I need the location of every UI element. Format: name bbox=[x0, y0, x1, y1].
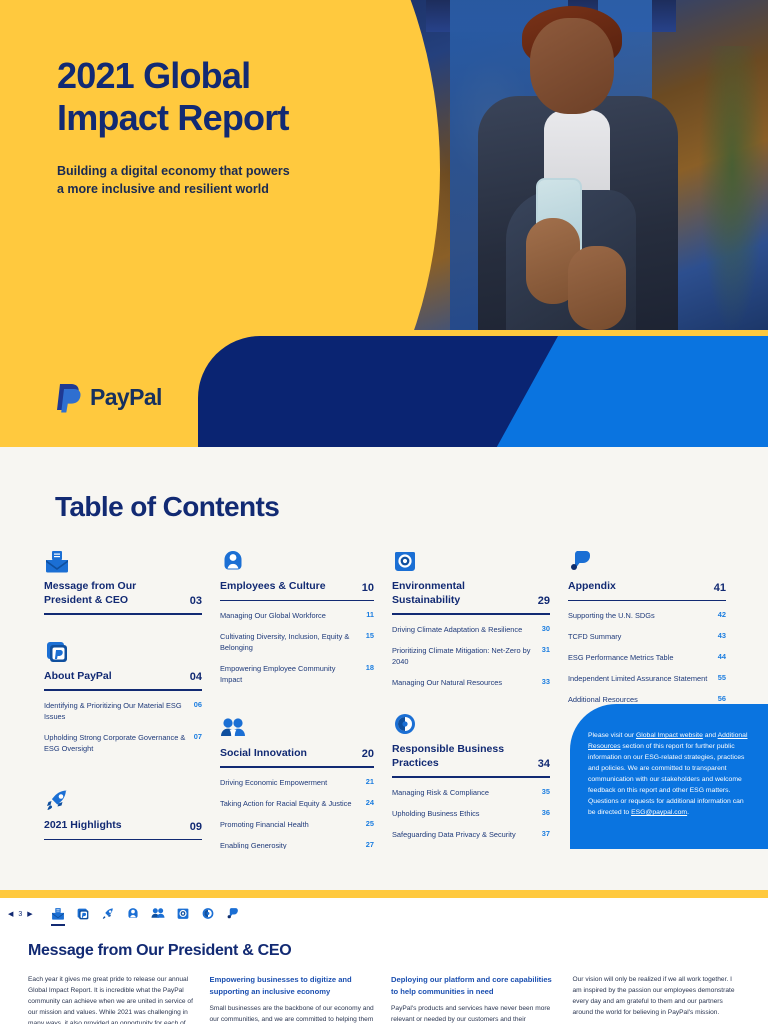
toolbar-accent-bar bbox=[0, 890, 768, 898]
callout-text-1: Please visit our bbox=[588, 732, 636, 739]
toc-subitem-label: Promoting Financial Health bbox=[220, 819, 309, 830]
toc-subitem[interactable]: Promoting Financial Health 25 bbox=[220, 819, 374, 830]
toc-subitem-label: Managing Our Global Workforce bbox=[220, 610, 326, 621]
toc-subitem[interactable]: Cultivating Diversity, Inclusion, Equity… bbox=[220, 631, 374, 653]
toc-subitem-label: Upholding Business Ethics bbox=[392, 808, 480, 819]
toc-subitem[interactable]: Independent Limited Assurance Statement … bbox=[568, 673, 726, 684]
section-heading: Deploying our platform and core capabili… bbox=[391, 974, 559, 998]
message-from-ceo-page: Message from Our President & CEO Each ye… bbox=[0, 930, 768, 1024]
cover-page: 2021 Global Impact Report Building a dig… bbox=[0, 0, 768, 447]
toc-subitem-label: TCFD Summary bbox=[568, 631, 621, 642]
paypal-logo: PayPal bbox=[55, 381, 162, 413]
toc-head-page: 34 bbox=[538, 758, 550, 770]
envelope-icon[interactable] bbox=[51, 907, 65, 921]
toc-head-label: 2021 Highlights bbox=[44, 819, 122, 833]
toc-subitem-page: 07 bbox=[194, 732, 202, 741]
shield-check-icon bbox=[392, 725, 418, 742]
cover-title-line2: Impact Report bbox=[57, 97, 289, 138]
body-paragraph: Small businesses are the backbone of our… bbox=[210, 1003, 378, 1024]
toc-subitem-page: 18 bbox=[366, 663, 374, 672]
toc-head: Social Innovation 20 bbox=[220, 747, 374, 761]
paypal-card-icon bbox=[44, 652, 70, 669]
photo-person-face bbox=[530, 18, 614, 114]
toc-subitem-label: Driving Economic Empowerment bbox=[220, 777, 327, 788]
body-paragraph: PayPal's products and services have neve… bbox=[391, 1003, 559, 1024]
current-page-number: 3 bbox=[18, 911, 22, 918]
cover-subtitle: Building a digital economy that powers a… bbox=[57, 162, 337, 198]
toc-subitem-label: Managing Risk & Compliance bbox=[392, 787, 489, 798]
paypal-logo-text: PayPal bbox=[90, 384, 162, 411]
toc-group-message[interactable]: Message from Our President & CEO 03 bbox=[44, 549, 202, 615]
toc-head-page: 10 bbox=[362, 582, 374, 594]
toc-divider bbox=[392, 776, 550, 777]
toc-head-label: Environmental Sustainability bbox=[392, 580, 532, 607]
rocket-icon bbox=[44, 801, 70, 818]
table-of-contents-page: Table of Contents Message from Our Presi… bbox=[0, 449, 768, 890]
toc-subitem-label: Managing Our Natural Resources bbox=[392, 677, 502, 688]
toc-subitem[interactable]: Managing Our Global Workforce 11 bbox=[220, 610, 374, 621]
toc-subitem-label: Supporting the U.N. SDGs bbox=[568, 610, 655, 621]
toc-subitem-page: 21 bbox=[366, 777, 374, 786]
toc-head-page: 04 bbox=[190, 671, 202, 683]
body-paragraph: Our vision will only be realized if we a… bbox=[573, 974, 741, 1018]
toc-head: About PayPal 04 bbox=[44, 670, 202, 684]
toc-subitem-page: 35 bbox=[542, 787, 550, 796]
toc-divider bbox=[44, 689, 202, 690]
toc-subitem-label: Identifying & Prioritizing Our Material … bbox=[44, 700, 186, 722]
toc-subitem-page: 36 bbox=[542, 808, 550, 817]
callout-text-3: section of this report for further publi… bbox=[588, 743, 744, 816]
two-people-icon[interactable] bbox=[151, 907, 165, 921]
toc-divider bbox=[44, 839, 202, 840]
toc-head: Employees & Culture 10 bbox=[220, 580, 374, 594]
toc-subitem-label: ESG Performance Metrics Table bbox=[568, 652, 673, 663]
toc-subitem-page: 11 bbox=[366, 610, 374, 619]
toc-group-about-paypal[interactable]: About PayPal 04 Identifying & Prioritizi… bbox=[44, 639, 202, 754]
toc-subitem[interactable]: Managing Risk & Compliance 35 bbox=[392, 787, 550, 798]
toc-subitem-page: 31 bbox=[542, 645, 550, 654]
toc-head-page: 09 bbox=[190, 821, 202, 833]
page3-column-4: Our vision will only be realized if we a… bbox=[573, 974, 741, 1024]
toc-subitem-page: 44 bbox=[718, 652, 726, 661]
toc-head-page: 03 bbox=[190, 595, 202, 607]
page3-column-3: Deploying our platform and core capabili… bbox=[391, 974, 559, 1024]
toc-subitem-page: 56 bbox=[718, 694, 726, 703]
toc-subitem-label: Driving Climate Adaptation & Resilience bbox=[392, 624, 522, 635]
page-title: Table of Contents bbox=[55, 491, 279, 523]
toc-head-label: Employees & Culture bbox=[220, 580, 326, 594]
toc-group-highlights[interactable]: 2021 Highlights 09 bbox=[44, 788, 202, 840]
bookmark-icon[interactable] bbox=[226, 907, 240, 921]
toc-bottom-spacer bbox=[0, 849, 768, 890]
toc-subitem[interactable]: Identifying & Prioritizing Our Material … bbox=[44, 700, 202, 722]
esg-email-link[interactable]: ESG@paypal.com bbox=[631, 809, 687, 816]
page3-column-2: Empowering businesses to digitize and su… bbox=[210, 974, 378, 1024]
toc-subitem-label: Independent Limited Assurance Statement bbox=[568, 673, 707, 684]
shield-check-icon[interactable] bbox=[201, 907, 215, 921]
toc-subitem-page: 43 bbox=[718, 631, 726, 640]
section-heading: Empowering businesses to digitize and su… bbox=[210, 974, 378, 998]
toc-subitem-label: Upholding Strong Corporate Governance & … bbox=[44, 732, 186, 754]
callout-text-2: and bbox=[703, 732, 718, 739]
next-page-button[interactable]: ▶ bbox=[27, 910, 32, 918]
toc-subitem-label: Safeguarding Data Privacy & Security bbox=[392, 829, 516, 840]
section-shortcut-icons bbox=[51, 907, 240, 921]
toc-head-label: Message from Our President & CEO bbox=[44, 580, 184, 607]
globe-target-icon[interactable] bbox=[176, 907, 190, 921]
bookmark-icon bbox=[568, 562, 594, 579]
document-toolbar: ◀ 3 ▶ bbox=[0, 898, 768, 930]
page-title: Message from Our President & CEO bbox=[28, 942, 291, 960]
toc-subitem-label: Empowering Employee Community Impact bbox=[220, 663, 358, 685]
toc-divider bbox=[44, 613, 202, 614]
toc-head-label: Responsible Business Practices bbox=[392, 743, 532, 770]
toc-head: Message from Our President & CEO 03 bbox=[44, 580, 202, 607]
toc-subitem[interactable]: Upholding Business Ethics 36 bbox=[392, 808, 550, 819]
toc-divider bbox=[220, 600, 374, 601]
callout-text-4: . bbox=[687, 809, 689, 816]
toc-divider bbox=[392, 613, 550, 614]
toc-subitem[interactable]: Driving Climate Adaptation & Resilience … bbox=[392, 624, 550, 635]
toc-subitem[interactable]: Empowering Employee Community Impact 18 bbox=[220, 663, 374, 685]
toc-subitem-label: Taking Action for Racial Equity & Justic… bbox=[220, 798, 351, 809]
toc-subitem[interactable]: ESG Performance Metrics Table 44 bbox=[568, 652, 726, 663]
toc-head: Environmental Sustainability 29 bbox=[392, 580, 550, 607]
toc-subitem-page: 25 bbox=[366, 819, 374, 828]
toc-group-appendix[interactable]: Appendix 41 Supporting the U.N. SDGs 42 … bbox=[568, 549, 726, 706]
page3-column-1: Each year it gives me great pride to rel… bbox=[28, 974, 196, 1024]
contact-callout: Please visit our Global Impact website a… bbox=[570, 704, 768, 849]
toc-subitem-page: 15 bbox=[366, 631, 374, 640]
toc-group-social-innovation[interactable]: Social Innovation 20 Driving Economic Em… bbox=[220, 716, 374, 851]
toc-head-label: Appendix bbox=[568, 580, 616, 594]
page-navigation: ◀ 3 ▶ bbox=[8, 910, 33, 918]
toc-divider bbox=[220, 766, 374, 767]
toc-subitem-label: Prioritizing Climate Mitigation: Net-Zer… bbox=[392, 645, 534, 667]
toc-subitem[interactable]: Managing Our Natural Resources 33 bbox=[392, 677, 550, 688]
toc-head: 2021 Highlights 09 bbox=[44, 819, 202, 833]
toc-subitem[interactable]: TCFD Summary 43 bbox=[568, 631, 726, 642]
toc-head-page: 20 bbox=[362, 748, 374, 760]
envelope-icon bbox=[44, 562, 70, 579]
toc-divider bbox=[568, 600, 726, 601]
toc-head-label: About PayPal bbox=[44, 670, 112, 684]
paypal-card-icon[interactable] bbox=[76, 907, 90, 921]
toc-subitem[interactable]: Safeguarding Data Privacy & Security 37 bbox=[392, 829, 550, 840]
toc-head-page: 29 bbox=[538, 595, 550, 607]
cover-navy-band bbox=[198, 336, 558, 447]
two-people-icon bbox=[220, 729, 246, 746]
global-impact-website-link[interactable]: Global Impact website bbox=[636, 732, 703, 739]
toc-subitem-page: 30 bbox=[542, 624, 550, 633]
toc-subitem-page: 42 bbox=[718, 610, 726, 619]
toc-subitem-page: 33 bbox=[542, 677, 550, 686]
cover-title: 2021 Global Impact Report bbox=[57, 55, 357, 139]
page3-columns: Each year it gives me great pride to rel… bbox=[28, 974, 740, 1024]
toc-subitem-page: 55 bbox=[718, 673, 726, 682]
cover-subtitle-line1: Building a digital economy that powers bbox=[57, 164, 290, 178]
person-badge-icon bbox=[220, 562, 246, 579]
toc-subitem[interactable]: Supporting the U.N. SDGs 42 bbox=[568, 610, 726, 621]
toc-head-label: Social Innovation bbox=[220, 747, 307, 761]
toc-group-employees-culture[interactable]: Employees & Culture 10 Managing Our Glob… bbox=[220, 549, 374, 686]
toc-subitem[interactable]: Upholding Strong Corporate Governance & … bbox=[44, 732, 202, 754]
toc-head-page: 41 bbox=[714, 582, 726, 594]
toc-head: Responsible Business Practices 34 bbox=[392, 743, 550, 770]
toc-subitem-page: 06 bbox=[194, 700, 202, 709]
globe-target-icon bbox=[392, 562, 418, 579]
body-paragraph: Each year it gives me great pride to rel… bbox=[28, 974, 196, 1024]
person-badge-icon[interactable] bbox=[126, 907, 140, 921]
toc-group-environmental[interactable]: Environmental Sustainability 29 Driving … bbox=[392, 549, 550, 688]
toc-subitem[interactable]: Driving Economic Empowerment 21 bbox=[220, 777, 374, 788]
toc-subitem-page: 27 bbox=[366, 840, 374, 849]
cover-subtitle-line2: a more inclusive and resilient world bbox=[57, 182, 269, 196]
toc-subitem[interactable]: Prioritizing Climate Mitigation: Net-Zer… bbox=[392, 645, 550, 667]
paypal-logo-icon bbox=[55, 381, 83, 413]
toc-subitem[interactable]: Taking Action for Racial Equity & Justic… bbox=[220, 798, 374, 809]
prev-page-button[interactable]: ◀ bbox=[8, 910, 13, 918]
photo-person-hand-right bbox=[568, 246, 626, 330]
photo-plants-right bbox=[696, 46, 768, 346]
toc-head: Appendix 41 bbox=[568, 580, 726, 594]
toc-subitem-label: Cultivating Diversity, Inclusion, Equity… bbox=[220, 631, 358, 653]
toc-subitem-page: 37 bbox=[542, 829, 550, 838]
rocket-icon[interactable] bbox=[101, 907, 115, 921]
cover-title-line1: 2021 Global bbox=[57, 55, 250, 96]
toc-subitem-page: 24 bbox=[366, 798, 374, 807]
